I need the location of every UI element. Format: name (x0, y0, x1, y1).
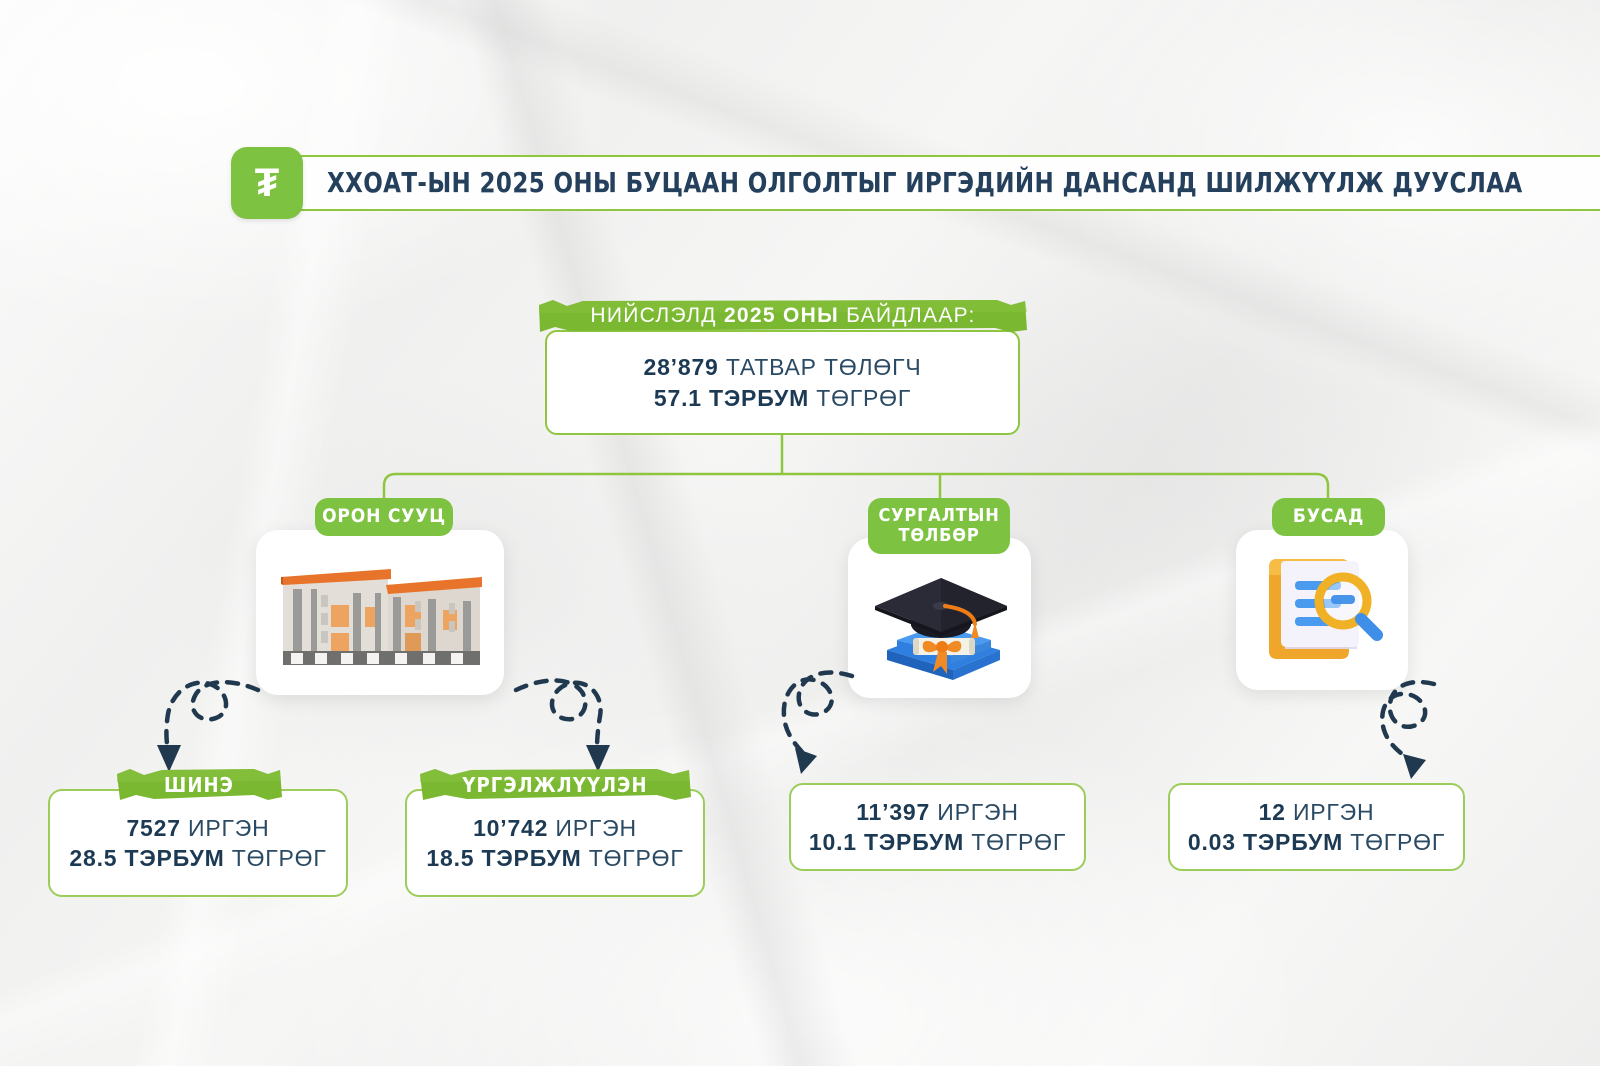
title-box: ХХОАТ-ЫН 2025 ОНЫ БУЦААН ОЛГОЛТЫГ ИРГЭДИ… (285, 155, 1600, 211)
main-stat-box: 28’879 ТАТВАР ТӨЛӨГЧ 57.1 ТЭРБУМ ТӨГРӨГ (545, 330, 1020, 435)
main-stat-line-2: 57.1 ТЭРБУМ ТӨГРӨГ (654, 385, 911, 412)
leaf-tuition-count: 11’397 (856, 799, 930, 825)
leaf-new-count: 7527 (126, 815, 180, 841)
image-card-housing (256, 530, 504, 695)
leaf-other-count-unit: ИРГЭН (1286, 799, 1375, 825)
leaf-box-other-stats: 12 ИРГЭН 0.03 ТЭРБУМ ТӨГРӨГ (1168, 783, 1465, 871)
category-label-other[interactable]: БУСАД (1272, 498, 1385, 536)
document-magnifier-image (1257, 549, 1387, 671)
arrow-head-icon (1403, 754, 1426, 779)
leaf-box-continuing: 10’742 ИРГЭН 18.5 ТЭРБУМ ТӨГРӨГ (405, 789, 705, 897)
dashed-curly-arrow-icon (516, 680, 601, 752)
leaf-box-new: 7527 ИРГЭН 28.5 ТЭРБУМ ТӨГРӨГ (48, 789, 348, 897)
leaf-tuition-line-1: 11’397 ИРГЭН (856, 799, 1019, 826)
image-card-other (1236, 530, 1408, 690)
leaf-continuing-amount-unit: ТӨГРӨГ (582, 845, 684, 871)
infographic-stage: ₮ ХХОАТ-ЫН 2025 ОНЫ БУЦААН ОЛГОЛТЫГ ИРГЭ… (0, 0, 1600, 1066)
leaf-new-line-2: 28.5 ТЭРБУМ ТӨГРӨГ (69, 845, 326, 872)
leaf-other-line-1: 12 ИРГЭН (1259, 799, 1375, 826)
tugrik-symbol: ₮ (255, 161, 279, 206)
title-bar: ₮ ХХОАТ-ЫН 2025 ОНЫ БУЦААН ОЛГОЛТЫГ ИРГЭ… (231, 147, 1600, 219)
leaf-other-amount: 0.03 ТЭРБУМ (1188, 829, 1343, 855)
leaf-tuition-amount: 10.1 ТЭРБУМ (809, 829, 964, 855)
category-label-housing[interactable]: ОРОН СУУЦ (315, 498, 453, 536)
leaf-tuition-line-2: 10.1 ТЭРБУМ ТӨГРӨГ (809, 829, 1066, 856)
category-label-tuition-text: СУРГАЛТЫН ТӨЛБӨР (878, 506, 999, 546)
category-label-housing-text: ОРОН СУУЦ (322, 506, 446, 527)
leaf-banner-continuing-text: ҮРГЭЛЖЛҮҮЛЭН (462, 773, 647, 797)
tugrik-currency-icon: ₮ (231, 147, 303, 219)
leaf-banner-new: ШИНЭ (114, 768, 284, 802)
leaf-continuing-line-2: 18.5 ТЭРБУМ ТӨГРӨГ (426, 845, 683, 872)
leaf-continuing-line-1: 10’742 ИРГЭН (473, 815, 637, 842)
leaf-continuing-count: 10’742 (473, 815, 548, 841)
dashed-curly-arrow-icon (784, 672, 852, 756)
main-taxpayer-count: 28’879 (644, 354, 719, 380)
main-taxpayer-unit: ТАТВАР ТӨЛӨГЧ (719, 354, 922, 380)
category-label-other-text: БУСАД (1293, 506, 1364, 527)
leaf-new-count-unit: ИРГЭН (181, 815, 270, 841)
main-header-banner: НИЙСЛЭЛД 2025 ОНЫ БАЙДЛААР: (537, 298, 1029, 334)
apartment-building-image (273, 555, 488, 670)
category-label-tuition[interactable]: СУРГАЛТЫН ТӨЛБӨР (868, 498, 1010, 554)
leaf-continuing-amount: 18.5 ТЭРБУМ (426, 845, 581, 871)
dashed-curly-arrow-icon (1382, 682, 1434, 762)
main-stat-line-1: 28’879 ТАТВАР ТӨЛӨГЧ (644, 354, 922, 381)
leaf-tuition-count-unit: ИРГЭН (930, 799, 1019, 825)
leaf-other-line-2: 0.03 ТЭРБУМ ТӨГРӨГ (1188, 829, 1445, 856)
main-header-text: НИЙСЛЭЛД 2025 ОНЫ БАЙДЛААР: (590, 304, 975, 328)
dashed-curly-arrow-icon (166, 682, 258, 752)
leaf-other-amount-unit: ТӨГРӨГ (1343, 829, 1445, 855)
main-amount-value: 57.1 ТЭРБУМ (654, 385, 809, 411)
arrow-head-icon (795, 748, 817, 774)
graduation-cap-books-image (865, 562, 1015, 687)
leaf-tuition-amount-unit: ТӨГРӨГ (964, 829, 1066, 855)
leaf-banner-continuing: ҮРГЭЛЖЛҮҮЛЭН (417, 768, 693, 802)
main-amount-unit: ТӨГРӨГ (809, 385, 911, 411)
image-card-tuition (848, 538, 1031, 698)
leaf-new-line-1: 7527 ИРГЭН (126, 815, 269, 842)
leaf-banner-new-text: ШИНЭ (164, 773, 234, 797)
leaf-new-amount: 28.5 ТЭРБУМ (69, 845, 224, 871)
leaf-continuing-count-unit: ИРГЭН (548, 815, 637, 841)
leaf-box-tuition-stats: 11’397 ИРГЭН 10.1 ТЭРБУМ ТӨГРӨГ (789, 783, 1086, 871)
leaf-new-amount-unit: ТӨГРӨГ (225, 845, 327, 871)
page-title: ХХОАТ-ЫН 2025 ОНЫ БУЦААН ОЛГОЛТЫГ ИРГЭДИ… (327, 167, 1523, 199)
leaf-other-count: 12 (1259, 799, 1286, 825)
